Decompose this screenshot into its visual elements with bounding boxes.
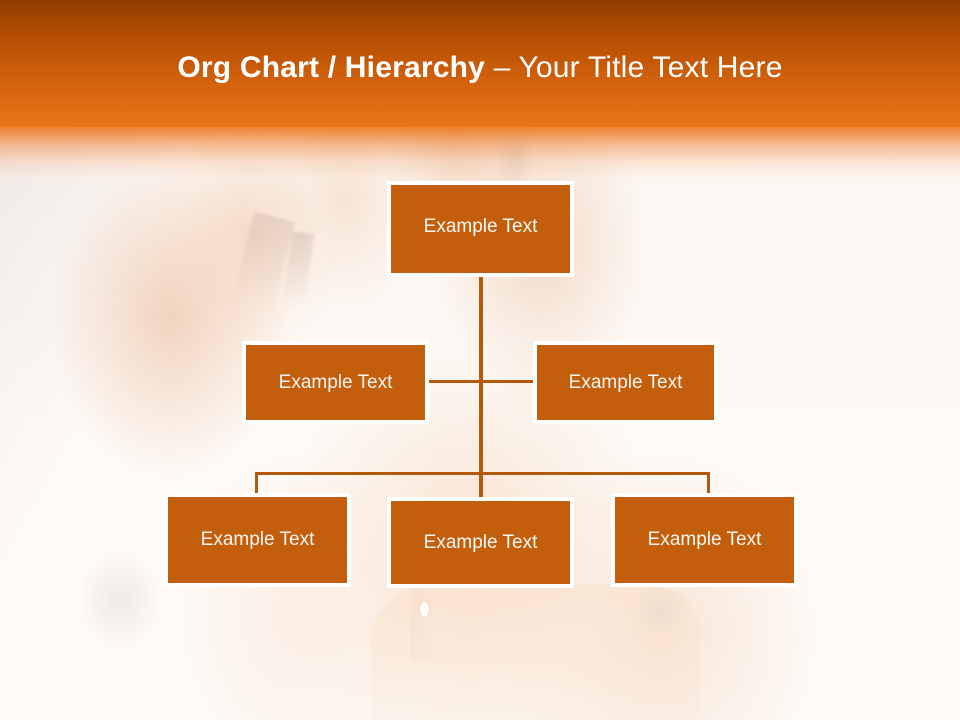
org-node-level2-left[interactable]: Example Text	[242, 341, 429, 424]
org-node-level3-middle[interactable]: Example Text	[387, 497, 574, 588]
org-node-level2-right[interactable]: Example Text	[533, 341, 718, 424]
org-node-label: Example Text	[648, 529, 762, 551]
page-title-bold: Org Chart / Hierarchy	[177, 51, 485, 84]
org-node-level3-right[interactable]: Example Text	[611, 493, 798, 587]
org-node-label: Example Text	[201, 529, 315, 551]
page-title-separator: –	[485, 51, 518, 84]
org-node-level3-left[interactable]: Example Text	[164, 493, 351, 587]
connector-level3-horizontal	[255, 472, 710, 475]
slide-canvas: Org Chart / Hierarchy – Your Title Text …	[0, 0, 960, 720]
org-node-label: Example Text	[424, 532, 538, 554]
page-title: Org Chart / Hierarchy – Your Title Text …	[0, 50, 960, 86]
org-node-label: Example Text	[424, 216, 538, 238]
org-node-label: Example Text	[569, 372, 683, 394]
page-title-light: Your Title Text Here	[518, 51, 782, 84]
org-node-root[interactable]: Example Text	[387, 181, 574, 277]
connector-level2-horizontal	[429, 380, 533, 383]
org-node-label: Example Text	[279, 372, 393, 394]
